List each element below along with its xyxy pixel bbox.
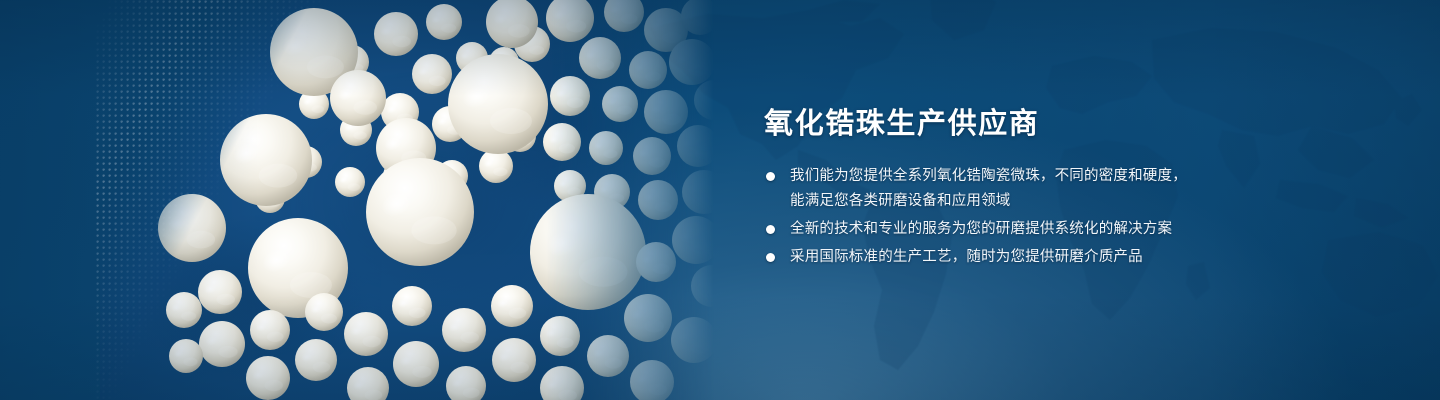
list-item: 采用国际标准的生产工艺，随时为您提供研磨介质产品: [764, 245, 1384, 270]
bullet-dot-icon: [766, 253, 775, 262]
bullet-text-line: 我们能为您提供全系列氧化锆陶瓷微珠，不同的密度和硬度，: [790, 164, 1384, 189]
banner-headline: 氧化锆珠生产供应商: [764, 104, 1384, 144]
list-item: 全新的技术和专业的服务为您的研磨提供系统化的解决方案: [764, 217, 1384, 242]
banner-content: 氧化锆珠生产供应商 我们能为您提供全系列氧化锆陶瓷微珠，不同的密度和硬度， 能满…: [764, 104, 1384, 273]
feature-bullet-list: 我们能为您提供全系列氧化锆陶瓷微珠，不同的密度和硬度， 能满足您各类研磨设备和应…: [764, 164, 1384, 270]
bullet-text-line: 能满足您各类研磨设备和应用领域: [790, 189, 1384, 214]
bullet-text-line: 采用国际标准的生产工艺，随时为您提供研磨介质产品: [790, 245, 1384, 270]
bullet-text-line: 全新的技术和专业的服务为您的研磨提供系统化的解决方案: [790, 217, 1384, 242]
bullet-dot-icon: [766, 225, 775, 234]
list-item: 我们能为您提供全系列氧化锆陶瓷微珠，不同的密度和硬度， 能满足您各类研磨设备和应…: [764, 164, 1384, 214]
hero-banner: 氧化锆珠生产供应商 我们能为您提供全系列氧化锆陶瓷微珠，不同的密度和硬度， 能满…: [0, 0, 1440, 400]
bullet-dot-icon: [766, 172, 775, 181]
